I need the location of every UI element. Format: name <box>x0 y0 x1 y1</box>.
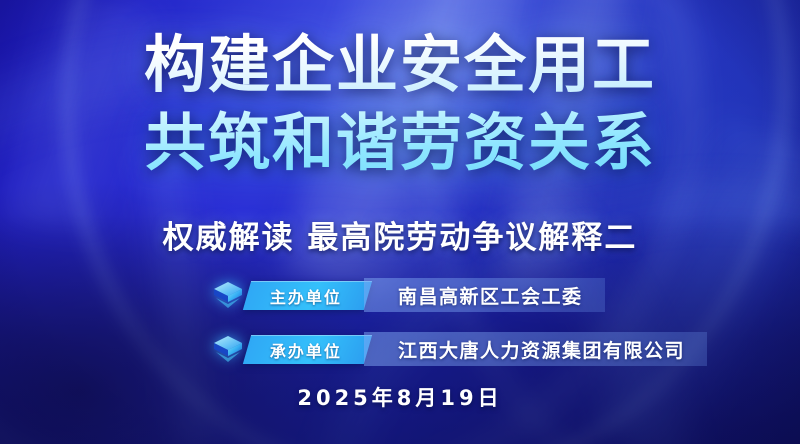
organizer-tag-host-label: 主办单位 <box>270 283 342 307</box>
organizer-tag-coorganizer: 承办单位 <box>243 335 372 364</box>
title-line-1: 构建企业安全用工 <box>0 26 800 104</box>
organizer-tag-host: 主办单位 <box>243 281 372 310</box>
poster-title: 构建企业安全用工 共筑和谐劳资关系 <box>0 26 800 182</box>
poster-banner: 构建企业安全用工 共筑和谐劳资关系 权威解读 最高院劳动争议解释二 <box>0 0 800 444</box>
organizer-name-host: 南昌高新区工会工委 <box>398 282 583 309</box>
poster-subtitle: 权威解读 最高院劳动争议解释二 <box>0 212 800 257</box>
organizer-row-coorganizer: 承办单位 江西大唐人力资源集团有限公司 <box>0 332 800 366</box>
organizer-name-coorganizer: 江西大唐人力资源集团有限公司 <box>398 336 685 363</box>
organizer-tag-coorganizer-label: 承办单位 <box>270 337 342 361</box>
organizer-plate-host: 南昌高新区工会工委 <box>364 278 605 312</box>
organizer-row-inner: 承办单位 江西大唐人力资源集团有限公司 <box>211 332 707 366</box>
poster-content: 构建企业安全用工 共筑和谐劳资关系 权威解读 最高院劳动争议解释二 <box>0 0 800 444</box>
organizer-plate-coorganizer: 江西大唐人力资源集团有限公司 <box>364 332 707 366</box>
event-date: 2025年8月19日 <box>0 382 800 412</box>
organizer-row-host: 主办单位 南昌高新区工会工委 <box>0 278 800 312</box>
title-line-2: 共筑和谐劳资关系 <box>0 104 800 182</box>
chevron-3d-icon <box>211 280 245 310</box>
chevron-3d-icon <box>211 334 245 364</box>
organizer-row-inner: 主办单位 南昌高新区工会工委 <box>211 278 605 312</box>
organizer-list: 主办单位 南昌高新区工会工委 <box>0 278 800 386</box>
